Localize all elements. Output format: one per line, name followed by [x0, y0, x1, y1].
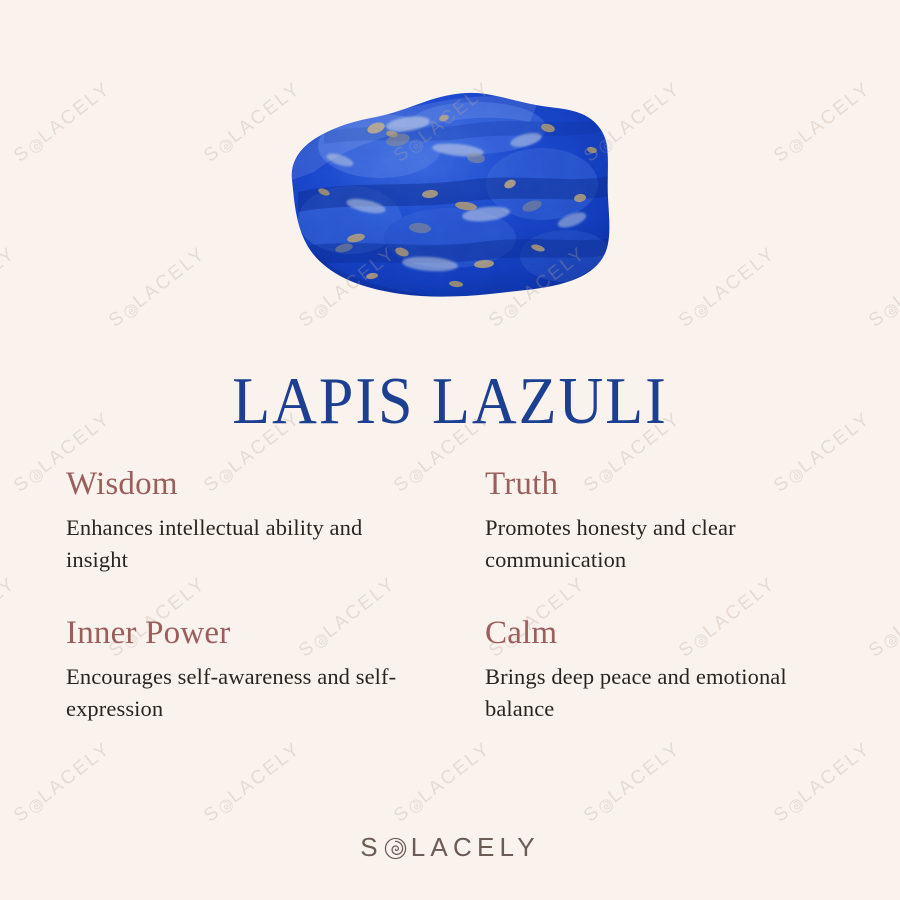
brand-logo-text-after: LACELY	[411, 832, 540, 863]
watermark-text: SLACELY	[485, 0, 591, 2]
watermark-text: SLACELY	[580, 738, 686, 827]
watermark-text: SLACELY	[770, 738, 876, 827]
watermark-text: SLACELY	[105, 0, 211, 2]
spiral-icon	[25, 465, 45, 485]
page-title: LAPIS LAZULI	[0, 368, 900, 435]
property-heading: Calm	[485, 615, 836, 652]
watermark-text: SLACELY	[865, 0, 900, 2]
lapis-lazuli-stone-image	[280, 88, 620, 303]
property-heading: Truth	[485, 466, 836, 503]
property-heading: Inner Power	[66, 615, 465, 652]
watermark-text: SLACELY	[865, 573, 900, 662]
brand-logo-text-before: S	[360, 832, 383, 863]
property-description: Enhances intellectual ability and insigh…	[66, 512, 421, 577]
watermark-text: SLACELY	[390, 738, 496, 827]
spiral-icon	[25, 795, 45, 815]
hero-image-container	[0, 88, 900, 310]
watermark-text: SLACELY	[675, 0, 781, 2]
watermark-text: SLACELY	[200, 738, 306, 827]
property-item-wisdom: Wisdom Enhances intellectual ability and…	[66, 466, 485, 577]
property-item-truth: Truth Promotes honesty and clear communi…	[485, 466, 856, 577]
property-description: Encourages self-awareness and self-expre…	[66, 661, 421, 726]
property-heading: Wisdom	[66, 466, 465, 503]
watermark-text: SLACELY	[10, 738, 116, 827]
crystal-info-card: LAPIS LAZULI Wisdom Enhances intellectua…	[0, 0, 900, 900]
property-item-inner-power: Inner Power Encourages self-awareness an…	[66, 615, 485, 726]
property-item-calm: Calm Brings deep peace and emotional bal…	[485, 615, 856, 726]
properties-grid: Wisdom Enhances intellectual ability and…	[66, 466, 856, 725]
spiral-icon	[215, 795, 235, 815]
property-description: Brings deep peace and emotional balance	[485, 661, 836, 726]
spiral-icon	[405, 795, 425, 815]
property-description: Promotes honesty and clear communication	[485, 512, 836, 577]
watermark-text: SLACELY	[0, 573, 21, 662]
watermark-text: SLACELY	[0, 0, 21, 2]
spiral-icon	[384, 836, 407, 859]
spiral-icon	[595, 795, 615, 815]
spiral-icon	[880, 630, 900, 650]
spiral-icon	[785, 795, 805, 815]
watermark-text: SLACELY	[295, 0, 401, 2]
brand-logo: S LACELY	[0, 832, 900, 863]
